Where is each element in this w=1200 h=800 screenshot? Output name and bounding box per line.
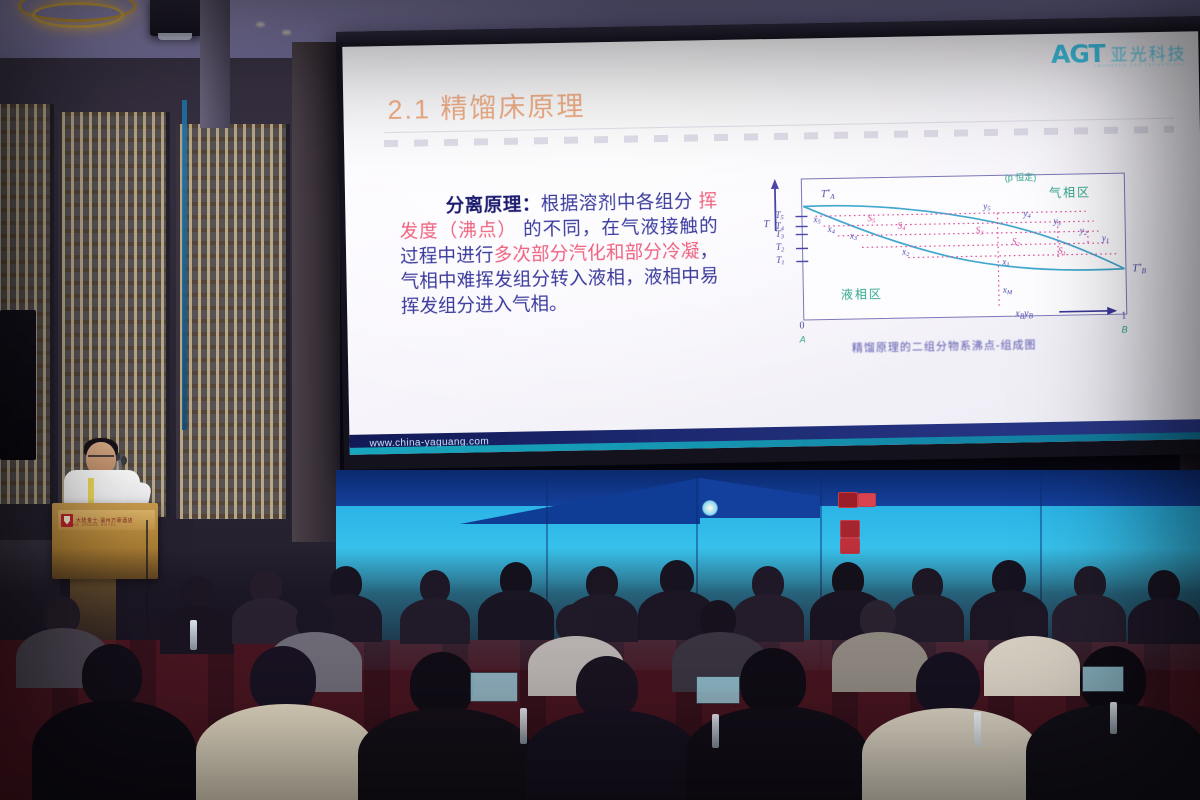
projector-lens xyxy=(158,33,192,40)
diagram-label-x4: x4 xyxy=(828,224,835,236)
audience-shoulders xyxy=(1052,594,1126,642)
audience-shoulders xyxy=(400,598,470,644)
audience-laptop xyxy=(696,676,740,704)
presentation-slide: AGT 亚光科技 ADVANCED GAS TECHNOLOGY 2.1 精馏床… xyxy=(342,31,1200,455)
diagram-label-s5: S5 xyxy=(867,213,875,225)
diagram-label-x5: x5 xyxy=(813,214,820,226)
diagram-label-y5: y5 xyxy=(983,201,990,213)
audience-shoulders xyxy=(160,606,234,654)
wall-speaker xyxy=(0,310,36,460)
water-bottle xyxy=(712,714,719,748)
audience-shoulders xyxy=(478,590,554,640)
diagram-endpoint-b: B xyxy=(1121,325,1127,335)
diagram-boiling-point-a: T*A xyxy=(821,188,835,201)
venue-name-en: THE GRAND HOTEL xyxy=(70,523,117,527)
diagram-label-xm: xM xyxy=(1003,285,1013,297)
audience-shoulders xyxy=(984,636,1080,696)
water-bottle xyxy=(1110,702,1117,734)
speaker-glasses xyxy=(88,455,114,463)
slide-title: 2.1 精馏床原理 xyxy=(387,84,586,127)
microphone-head xyxy=(121,456,127,465)
ceiling-light-dot xyxy=(282,30,291,35)
diagram-label-y4: y4 xyxy=(1023,208,1030,220)
podium-nameplate: 大陆金士·温州万豪酒店 xyxy=(58,510,155,530)
diagram-ytick-t2: T2 xyxy=(776,242,784,254)
audience-shoulders xyxy=(832,632,928,692)
audience-shoulders xyxy=(1128,598,1200,644)
audience-head xyxy=(916,652,980,716)
audience-shoulders xyxy=(862,708,1040,800)
audience-shoulders xyxy=(358,708,534,800)
audience-shoulders xyxy=(526,710,698,800)
diagram-ytick-t3: T3 xyxy=(776,229,784,241)
conference-room-photo: AGT 亚光科技 ADVANCED GAS TECHNOLOGY 2.1 精馏床… xyxy=(0,0,1200,800)
diagram-label-s3: S3 xyxy=(976,225,984,237)
diagram-caption: 精馏原理的二组分物系沸点-组成图 xyxy=(852,336,1037,355)
diagram-region-gas: 气相区 xyxy=(1049,183,1091,201)
audience-head xyxy=(576,656,638,718)
diagram-boiling-point-b: T*B xyxy=(1132,262,1146,275)
water-bottle xyxy=(520,708,527,744)
title-dotted-rule xyxy=(384,126,1174,147)
diagram-label-s1: S1 xyxy=(1058,246,1066,258)
diagram-label-y3: y3 xyxy=(1053,216,1060,228)
audience-head xyxy=(82,644,142,706)
audience-head xyxy=(410,652,474,716)
audience-laptop xyxy=(1082,666,1124,692)
diagram-label-y1: y1 xyxy=(1102,233,1109,245)
diagram-label-x1: x1 xyxy=(1002,257,1009,269)
water-bottle xyxy=(974,712,981,746)
diagram-x-axis-label: xByB xyxy=(1015,308,1033,320)
audience-head xyxy=(250,646,316,712)
diagram-endpoint-a: A xyxy=(800,334,806,344)
wall-signage xyxy=(858,493,876,507)
diagram-xtick-0: 0 xyxy=(799,320,804,331)
audience-shoulders xyxy=(196,704,376,800)
diagram-y-axis-label: T xyxy=(764,219,770,230)
diagram-ytick-t5: T5 xyxy=(775,210,783,222)
body-seg1: 根据溶剂中各组分 xyxy=(541,190,699,214)
wood-column xyxy=(292,42,338,542)
diagram-curves xyxy=(757,158,1177,362)
wall-signage xyxy=(838,492,858,508)
diagram-pressure-note: (p 恒定) xyxy=(1005,170,1037,184)
diagram-label-x2: x2 xyxy=(902,247,909,259)
wall-accent-light xyxy=(182,100,187,430)
audience-laptop xyxy=(470,672,518,702)
chandelier xyxy=(18,0,136,34)
wall-spotlight xyxy=(702,500,718,516)
ceiling-projector xyxy=(150,0,202,36)
ceiling-light-dot xyxy=(256,22,265,27)
wood-column xyxy=(200,0,230,128)
audience-shoulders xyxy=(32,700,196,800)
diagram-label-s2: S2 xyxy=(1012,237,1020,249)
projection-screen: AGT 亚光科技 ADVANCED GAS TECHNOLOGY 2.1 精馏床… xyxy=(336,16,1200,470)
diagram-region-liquid: 液相区 xyxy=(841,285,883,303)
body-lead: 分离原理： xyxy=(445,193,541,216)
audience-head xyxy=(740,648,806,714)
wall-signage xyxy=(840,520,860,538)
diagram-xtick-1: 1 xyxy=(1121,311,1126,322)
body-highlight-2: 多次部分汽化和部分冷凝 xyxy=(494,240,700,265)
wall-lattice-panel xyxy=(176,124,290,519)
diagram-ytick-t1: T1 xyxy=(776,255,784,267)
diagram-label-x3: x3 xyxy=(850,230,857,242)
diagram-label-s4: S4 xyxy=(898,221,906,233)
water-bottle xyxy=(190,620,197,650)
diagram-label-y2: y2 xyxy=(1080,225,1087,237)
logo-tagline: ADVANCED GAS TECHNOLOGY xyxy=(1094,61,1187,68)
phase-diagram: (p 恒定) 气相区 液相区 T xByB T*A T*B T5 T4 T3 T… xyxy=(757,158,1177,362)
slide-body-text: 分离原理：根据溶剂中各组分 挥发度（沸点） 的不同，在气液接触的过程中进行多次部… xyxy=(399,188,719,319)
